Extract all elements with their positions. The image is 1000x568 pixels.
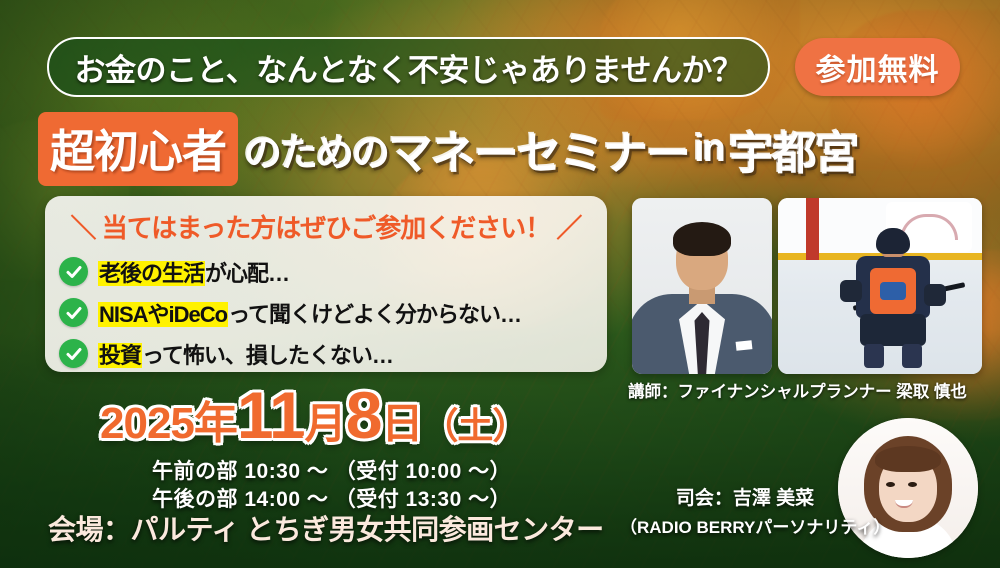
mc-name: 司会：吉澤 美菜 [620, 483, 870, 510]
event-day-unit: 日 [381, 400, 422, 447]
checklist-item-rest: って怖い、損したくない… [142, 343, 393, 368]
photo-pair [632, 198, 982, 374]
title-chip-label: 超初心者 [50, 115, 226, 180]
list-item: 老後の生活が心配… [59, 253, 607, 290]
free-badge-label: 参加無料 [816, 45, 940, 89]
player-glove-right [924, 284, 946, 306]
player-glove-left [840, 280, 862, 302]
player-leg-left [864, 344, 884, 368]
check-icon [59, 339, 88, 368]
list-item: NISAやiDeCoって聞くけどよく分からない… [59, 294, 607, 331]
mc-caption: 司会：吉澤 美菜 （RADIO BERRYパーソナリティ） [620, 483, 870, 538]
mc-eye-right [908, 482, 917, 487]
checklist-item-highlight: NISAやiDeCo [98, 302, 228, 327]
event-month-unit: 月 [305, 400, 346, 447]
session-morning: 午前の部 10:30 ～ （受付 10:00 ～） [152, 455, 511, 485]
title-chip-beginner: 超初心者 [38, 112, 238, 186]
list-item: 投資って怖い、損したくない… [59, 335, 607, 372]
event-date: 2025年11月8日（土） [100, 382, 527, 448]
checklist-item-text: 投資って怖い、損したくない… [98, 338, 393, 370]
title-main-text: マネーセミナー [388, 117, 689, 182]
title-in: in [694, 128, 724, 171]
event-weekday: （土） [422, 405, 527, 446]
headline-pill: お金のこと、なんとなく不安じゃありませんか？ [47, 37, 770, 97]
event-venue: 会場：パルティ とちぎ男女共同参画センター [48, 508, 604, 548]
check-icon [59, 298, 88, 327]
player-pants [860, 314, 926, 346]
check-icon [59, 257, 88, 286]
mc-eye-left [886, 482, 895, 487]
event-month-number: 11 [237, 378, 305, 452]
event-year: 2025年 [100, 399, 237, 448]
checklist-panel: ＼ 当てはまった方はぜひご参加ください！ ／ 老後の生活が心配… NISAやiD… [45, 196, 607, 372]
free-participation-badge: 参加無料 [795, 38, 960, 96]
checklist-item-rest: って聞くけどよく分からない… [228, 302, 521, 327]
checklist-heading: ＼ 当てはまった方はぜひご参加ください！ ／ [45, 208, 607, 245]
title-middle: のための [244, 122, 388, 177]
mc-role: （RADIO BERRYパーソナリティ） [620, 513, 870, 538]
checklist-item-text: NISAやiDeCoって聞くけどよく分からない… [98, 297, 521, 329]
seminar-banner: お金のこと、なんとなく不安じゃありませんか？ 参加無料 超初心者 のための マネ… [0, 0, 1000, 568]
checklist-item-rest: が心配… [205, 261, 289, 286]
speaker-caption: 講師：ファイナンシャルプランナー 梁取 慎也 [628, 378, 988, 402]
hockey-player-photo [778, 198, 982, 374]
speaker-pocket-square [736, 340, 753, 351]
event-day-number: 8 [346, 378, 382, 452]
checklist-item-highlight: 老後の生活 [98, 261, 205, 286]
mc-bangs [875, 446, 941, 472]
main-title: 超初心者 のための マネーセミナー in 宇都宮 [38, 118, 988, 180]
speaker-photo [632, 198, 772, 374]
player-leg-right [902, 344, 922, 368]
headline-text: お金のこと、なんとなく不安じゃありませんか？ [75, 45, 743, 90]
speaker-hair [673, 222, 731, 256]
title-city: 宇都宮 [729, 117, 858, 182]
player-helmet [876, 228, 910, 254]
player-crest [880, 282, 906, 300]
rink-post [806, 198, 819, 260]
checklist-item-highlight: 投資 [98, 343, 142, 368]
checklist-item-text: 老後の生活が心配… [98, 256, 289, 288]
